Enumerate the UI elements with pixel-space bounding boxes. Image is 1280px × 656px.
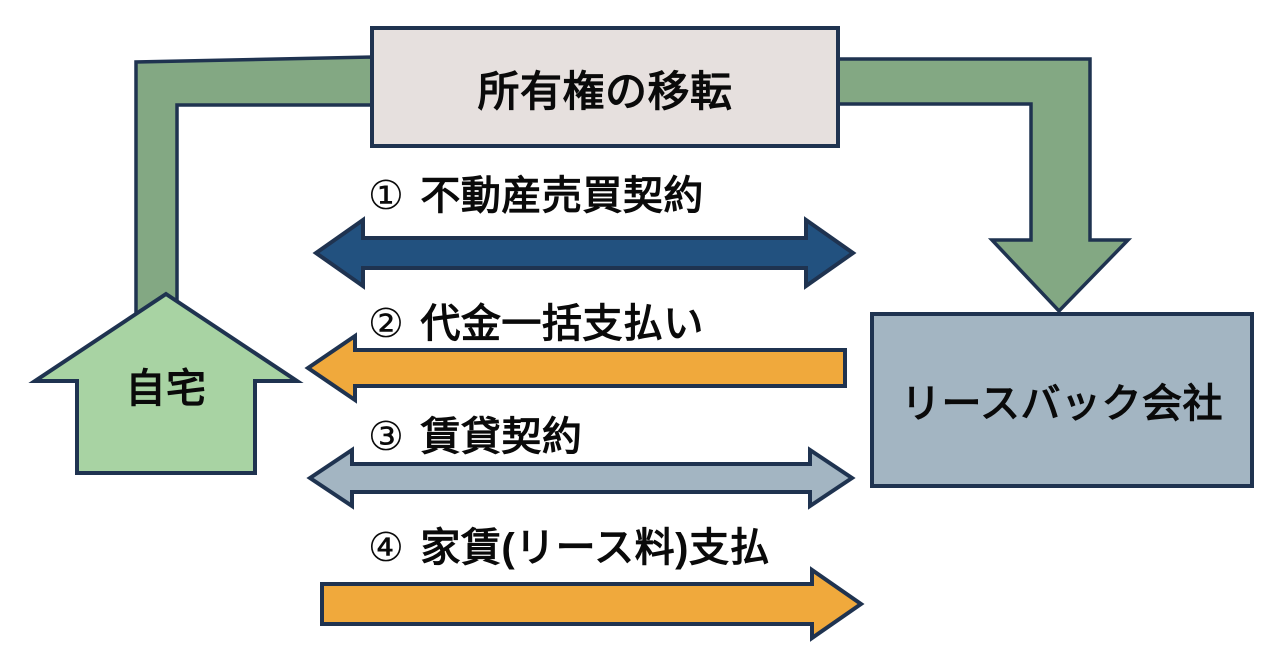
flow-arrow-4 bbox=[322, 570, 861, 638]
flow-arrow-1 bbox=[316, 220, 853, 286]
ownership-left-elbow-shape bbox=[136, 57, 372, 330]
home-node-shape bbox=[35, 294, 297, 473]
ownership-right-elbow-shape bbox=[838, 59, 1128, 311]
leaseback-company-box bbox=[872, 314, 1252, 486]
diagram-canvas: 所有権の移転 自宅 リースバック会社 ①不動産売買契約 ②代金一括支払い ③賃貸… bbox=[0, 0, 1280, 656]
flow-arrow-2 bbox=[308, 336, 845, 400]
diagram-shapes bbox=[0, 0, 1280, 656]
ownership-transfer-box bbox=[372, 28, 838, 146]
flow-arrow-3 bbox=[310, 450, 852, 506]
